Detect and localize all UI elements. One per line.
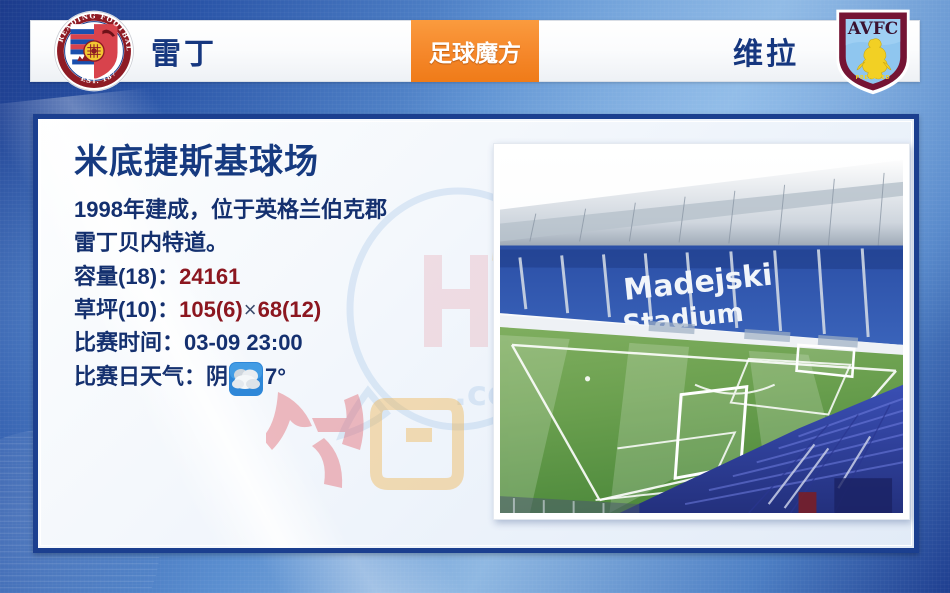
cloudy-weather-icon	[229, 362, 263, 396]
avfc-motto-text: PREPARED	[856, 75, 891, 81]
capacity-label: 容量(18)：	[74, 264, 179, 289]
kickoff-label: 比赛时间：	[74, 330, 184, 355]
stadium-info-panel: .com 米底捷斯基球场 1998年建成，位于英格兰伯克郡 雷丁贝内特道。 容量…	[33, 114, 919, 553]
weather-temperature: 7°	[265, 360, 286, 393]
pitch-width-value: 68(12)	[258, 297, 322, 322]
weather-label: 比赛日天气：	[74, 360, 206, 393]
home-team-name: 雷丁	[151, 29, 217, 73]
away-team-name: 维拉	[733, 29, 799, 73]
pitch-length-value: 105(6)	[179, 297, 243, 322]
stadium-description-line-1: 1998年建成，位于英格兰伯克郡	[74, 193, 494, 226]
pitch-label: 草坪(10)：	[74, 297, 179, 322]
reading-fc-crest-icon: READING FOOTBALL CLUB EST. 1871	[52, 9, 136, 93]
aston-villa-crest-icon: AVFC PREPARED	[830, 4, 916, 98]
stadium-description-line-2: 雷丁贝内特道。	[74, 226, 494, 259]
pitch-row: 草坪(10)：105(6)×68(12)	[74, 293, 494, 326]
brand-logo-box[interactable]: 足球魔方	[411, 20, 539, 82]
capacity-row: 容量(18)：24161	[74, 260, 494, 293]
stadium-photo-frame: Madejski Stadium	[493, 143, 910, 520]
madejski-stadium-photo: Madejski Stadium	[500, 150, 903, 513]
stadium-title: 米底捷斯基球场	[74, 145, 494, 181]
weather-row: 比赛日天气：阴 7°	[74, 360, 494, 394]
stadium-info-block: 米底捷斯基球场 1998年建成，位于英格兰伯克郡 雷丁贝内特道。 容量(18)：…	[74, 145, 494, 394]
capacity-value: 24161	[179, 264, 240, 289]
avfc-initials-text: AVFC	[847, 18, 898, 38]
kickoff-row: 比赛时间：03-09 23:00	[74, 326, 494, 359]
kickoff-value: 03-09 23:00	[184, 330, 303, 355]
weather-condition: 阴	[206, 360, 228, 393]
pitch-dimension-separator: ×	[243, 297, 258, 322]
brand-logo-text: 足球魔方	[429, 34, 521, 68]
match-stadium-infographic: 雷丁 维拉	[0, 0, 950, 593]
